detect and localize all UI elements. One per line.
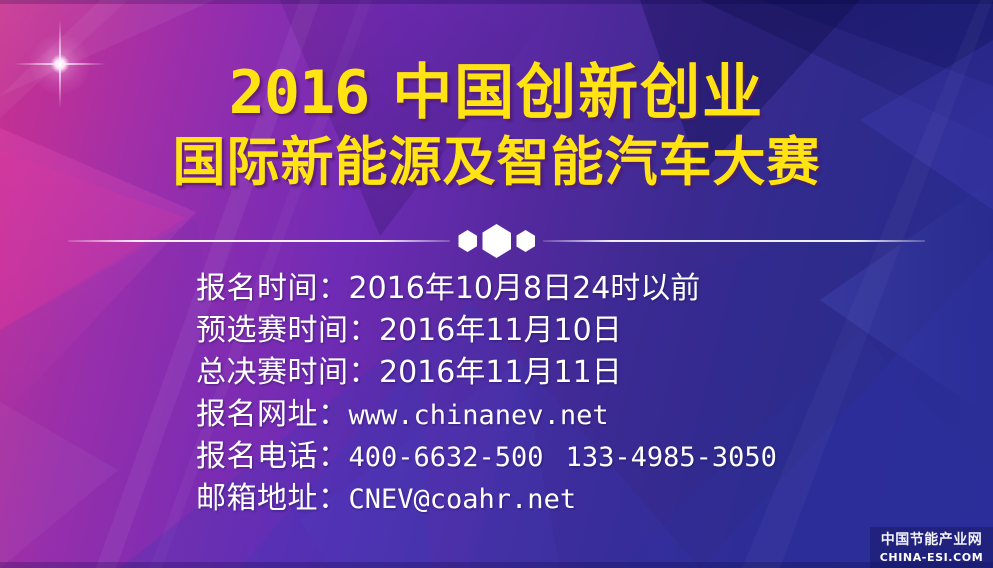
title-line-1-text: 中国创新创业 — [392, 58, 764, 128]
email-address[interactable]: CNEV@coahr.net — [349, 484, 577, 515]
info-value: 2016年10月8日24时以前 — [349, 271, 701, 306]
divider-rule-left — [68, 240, 450, 242]
title-line-1: 2016 中国创新创业 — [0, 62, 993, 126]
title-year: 2016 — [229, 58, 370, 128]
divider-ornament — [0, 224, 993, 258]
event-info-list: 报名时间：2016年10月8日24时以前 预选赛时间：2016年11月10日 总… — [196, 268, 777, 520]
poster-content: 2016 中国创新创业 国际新能源及智能汽车大赛 报名时间：2016年10月8日… — [0, 0, 993, 568]
hexagon-icon-right — [516, 230, 535, 252]
divider-rule-right — [543, 240, 925, 242]
phone-secondary[interactable]: 133-4985-3050 — [566, 442, 777, 473]
hexagon-icon-left — [458, 230, 477, 252]
watermark-en-text: CHINA-ESI.COM — [870, 550, 993, 565]
info-value: 2016年11月10日 — [379, 313, 622, 348]
site-watermark: 中国节能产业网 CHINA-ESI.COM — [870, 527, 993, 568]
title-line-2: 国际新能源及智能汽车大赛 — [0, 134, 993, 192]
poster-title: 2016 中国创新创业 国际新能源及智能汽车大赛 — [0, 62, 993, 192]
info-label: 总决赛时间： — [196, 355, 379, 390]
info-label: 报名网址： — [196, 397, 349, 432]
info-line-email: 邮箱地址：CNEV@coahr.net — [196, 478, 777, 520]
watermark-cn-text: 中国节能产业网 — [870, 531, 993, 549]
info-label: 报名时间： — [196, 271, 349, 306]
info-label: 邮箱地址： — [196, 481, 349, 516]
info-line-phone: 报名电话：400-6632-500133-4985-3050 — [196, 436, 777, 478]
info-label: 预选赛时间： — [196, 313, 379, 348]
website-url[interactable]: www.chinanev.net — [349, 400, 609, 431]
hexagon-icon-center — [482, 224, 511, 258]
info-line-final-date: 总决赛时间：2016年11月11日 — [196, 352, 777, 394]
event-poster: 2016 中国创新创业 国际新能源及智能汽车大赛 报名时间：2016年10月8日… — [0, 0, 993, 568]
info-value: 2016年11月11日 — [379, 355, 622, 390]
info-line-website: 报名网址：www.chinanev.net — [196, 394, 777, 436]
info-line-preliminary-date: 预选赛时间：2016年11月10日 — [196, 310, 777, 352]
info-line-registration-deadline: 报名时间：2016年10月8日24时以前 — [196, 268, 777, 310]
phone-primary[interactable]: 400-6632-500 — [349, 442, 544, 473]
info-label: 报名电话： — [196, 439, 349, 474]
divider-hexagons — [458, 224, 535, 258]
